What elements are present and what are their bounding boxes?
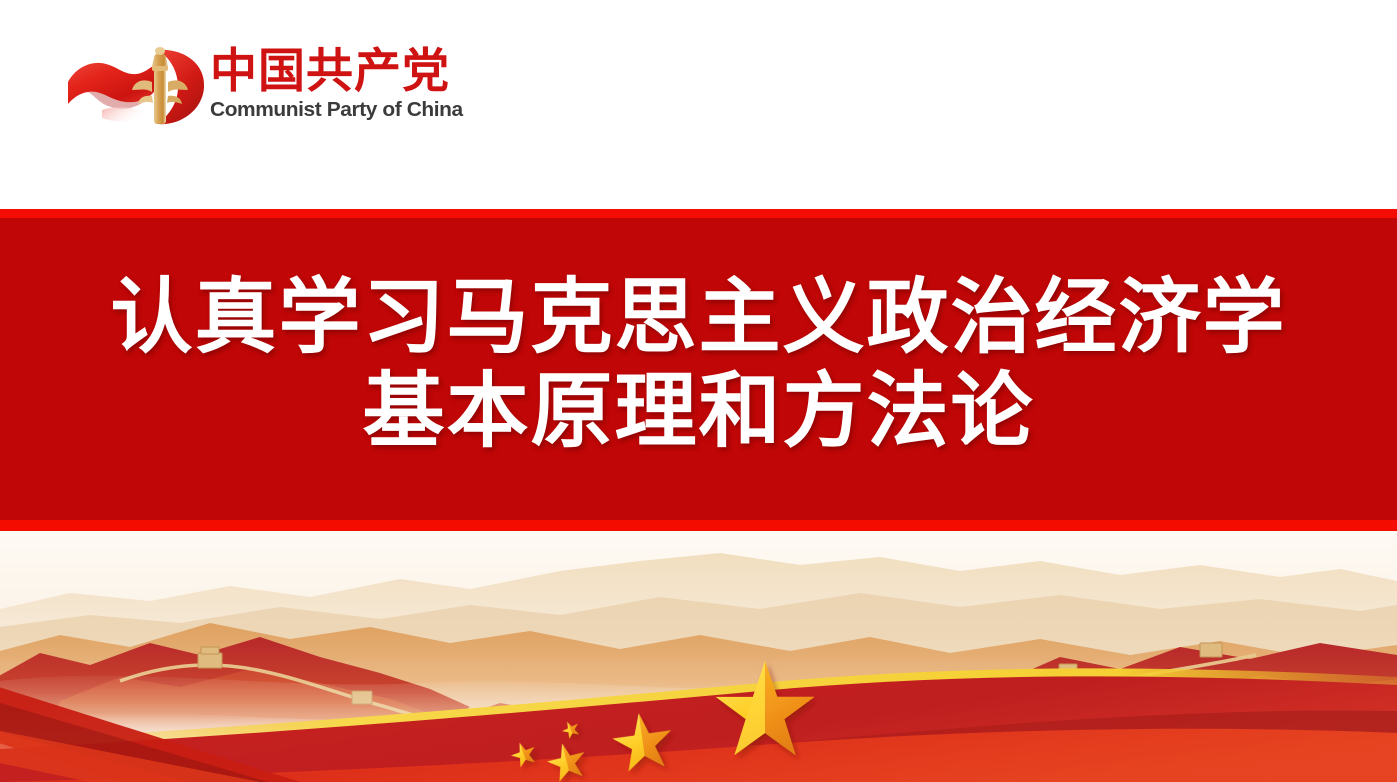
banner-top-edge-stripe [0, 209, 1397, 218]
slide-title-line-2: 基本原理和方法论 [0, 365, 1397, 459]
cpc-flag-column-emblem-icon [62, 38, 210, 138]
red-ribbon-wave-icon [0, 531, 1397, 782]
cpc-logo: 中国共产党 Communist Party of China [62, 38, 432, 138]
cpc-wordmark: 中国共产党 Communist Party of China [210, 44, 432, 136]
cpc-name-english: Communist Party of China [210, 98, 436, 122]
slide-title-line-1: 认真学习马克思主义政治经济学 [0, 271, 1397, 365]
header-band: 中国共产党 Communist Party of China [0, 0, 1397, 209]
flag-tail-ribbon [102, 107, 152, 121]
cpc-name-chinese: 中国共产党 [210, 44, 432, 98]
presentation-slide: 中国共产党 Communist Party of China 认真学习马克思主义… [0, 0, 1397, 782]
slide-title: 认真学习马克思主义政治经济学 基本原理和方法论 [0, 271, 1397, 459]
title-banner: 认真学习马克思主义政治经济学 基本原理和方法论 [0, 209, 1397, 531]
banner-bottom-edge-stripe [0, 520, 1397, 531]
